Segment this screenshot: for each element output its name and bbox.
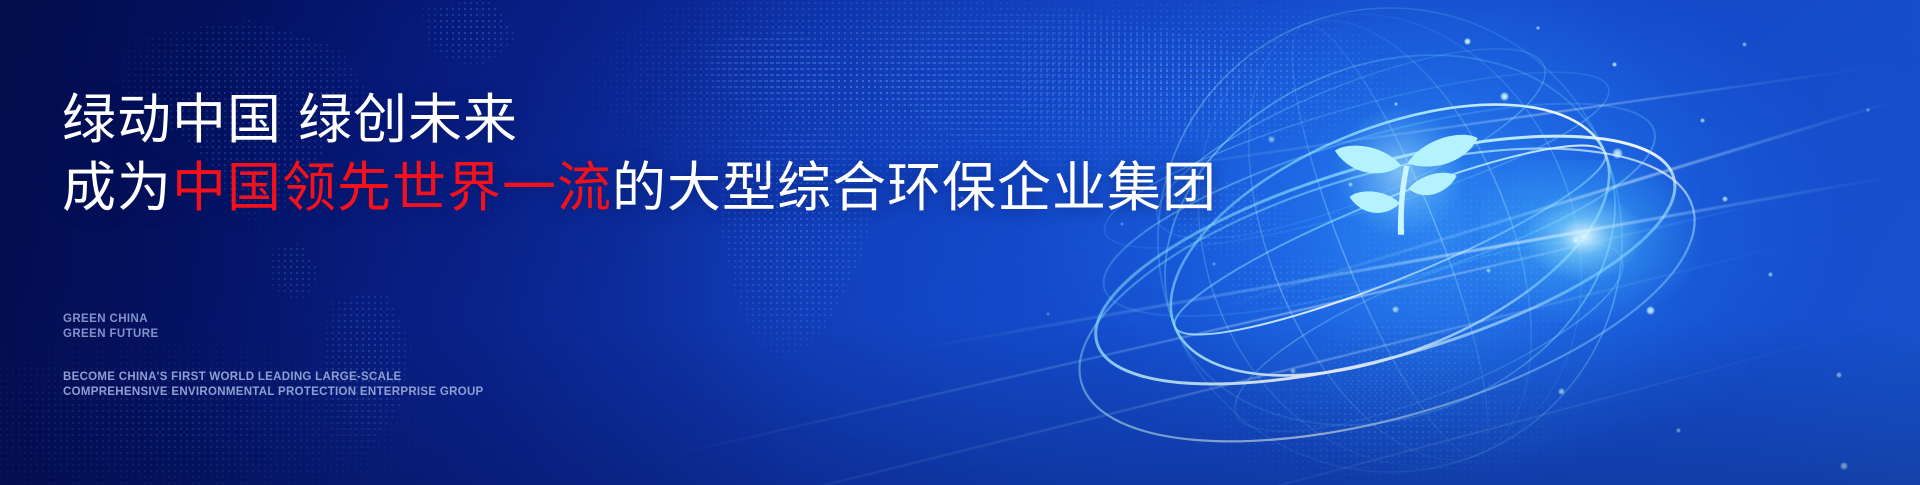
headline-line-1: 绿动中国 绿创未来 [62,90,518,150]
subcopy: BECOME CHINA'S FIRST WORLD LEADING LARGE… [63,370,484,399]
page-title: 绿动中国 绿创未来 成为中国领先世界一流的大型综合环保企业集团 [62,86,1217,222]
tagline-line-2: GREEN FUTURE [63,327,159,342]
light-streak [1196,97,1905,316]
headline-line-2: 成为中国领先世界一流的大型综合环保企业集团 [62,154,1217,222]
globe-glow [1160,0,1720,485]
subcopy-line-1: BECOME CHINA'S FIRST WORLD LEADING LARGE… [63,370,484,385]
tagline-line-1: GREEN CHINA [63,312,159,327]
halftone-mesh-mid-right [1330,150,1660,370]
headline-line2-suffix: 的大型综合环保企业集团 [612,158,1217,218]
headline-line2-highlight: 中国领先世界一流 [172,158,612,218]
tagline: GREEN CHINA GREEN FUTURE [63,312,159,341]
halftone-mesh-bottom-right [1180,345,1600,485]
wireframe-globe [1080,0,1700,485]
hero-banner: 绿动中国 绿创未来 成为中国领先世界一流的大型综合环保企业集团 GREEN CH… [0,0,1920,485]
headline-line2-prefix: 成为 [62,158,172,218]
banner-copy: 绿动中国 绿创未来 成为中国领先世界一流的大型综合环保企业集团 GREEN CH… [62,0,1062,485]
subcopy-line-2: COMPREHENSIVE ENVIRONMENTAL PROTECTION E… [63,385,484,400]
sprout-seedling-icon [1335,135,1478,235]
core-flare [1480,160,1710,330]
